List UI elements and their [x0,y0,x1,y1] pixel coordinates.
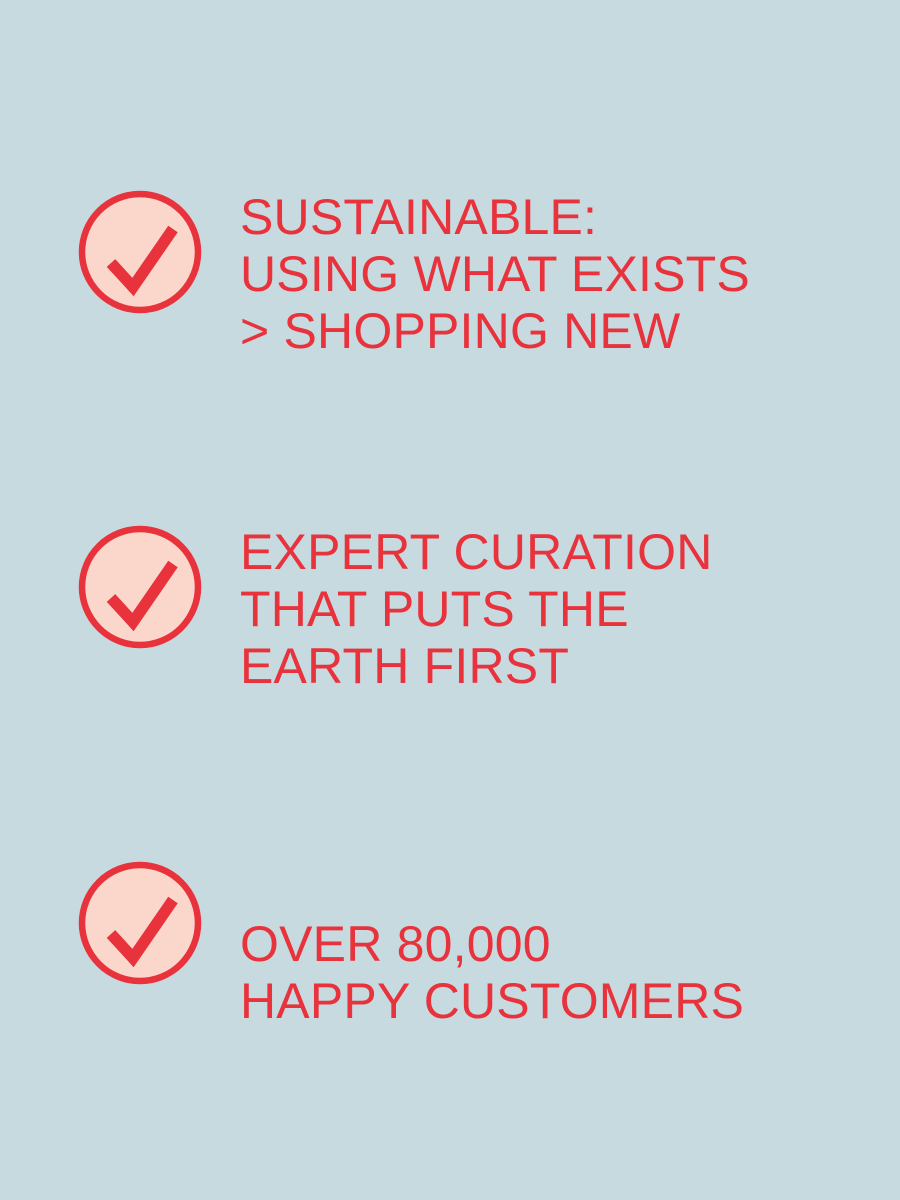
benefit-list: SUSTAINABLE: USING WHAT EXISTS > SHOPPIN… [0,0,900,1200]
promo-panel: SUSTAINABLE: USING WHAT EXISTS > SHOPPIN… [0,0,900,1200]
check-circle-icon [78,190,202,314]
benefit-text: EXPERT CURATION THAT PUTS THE EARTH FIRS… [240,524,878,695]
list-item: SUSTAINABLE: USING WHAT EXISTS > SHOPPIN… [78,190,878,360]
check-circle-icon [78,861,202,985]
list-item: OVER 80,000 HAPPY CUSTOMERS [78,861,878,1030]
benefit-text: SUSTAINABLE: USING WHAT EXISTS > SHOPPIN… [240,189,878,360]
list-item: EXPERT CURATION THAT PUTS THE EARTH FIRS… [78,525,878,695]
benefit-text: OVER 80,000 HAPPY CUSTOMERS [240,916,878,1030]
check-circle-icon [78,525,202,649]
